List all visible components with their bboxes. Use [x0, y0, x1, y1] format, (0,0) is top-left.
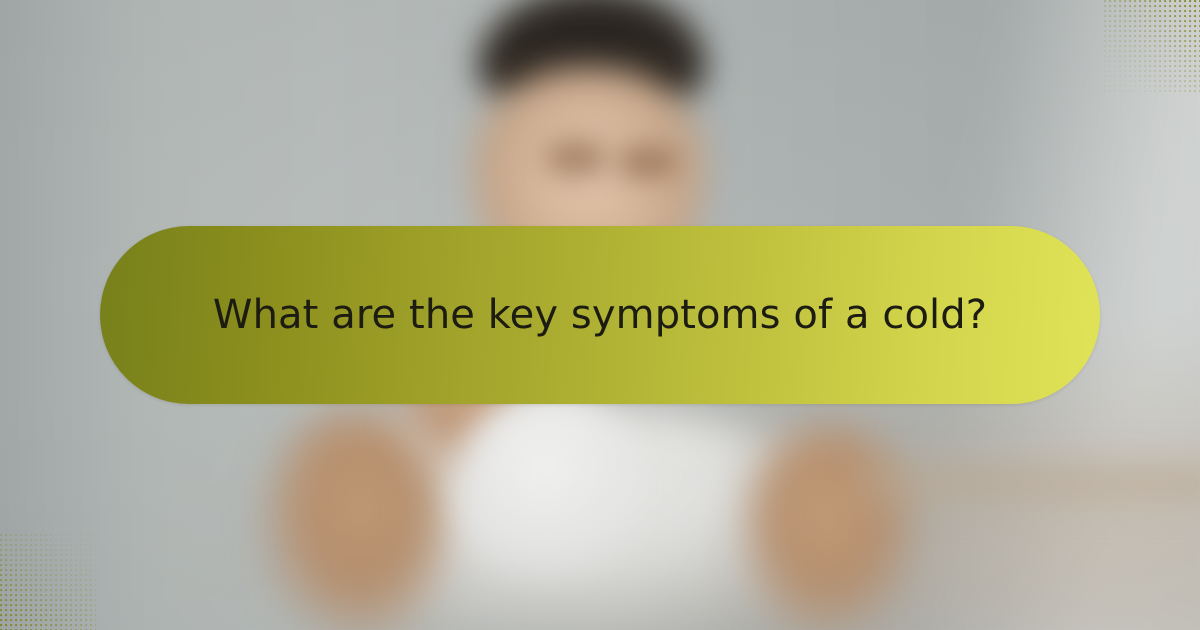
question-pill: What are the key symptoms of a cold? [100, 226, 1100, 404]
subject-eyebrow-left [545, 140, 607, 176]
subject-eyebrow-right [616, 144, 678, 180]
tissue [452, 392, 644, 588]
question-text: What are the key symptoms of a cold? [213, 292, 987, 338]
banner-canvas: What are the key symptoms of a cold? [0, 0, 1200, 630]
counter-band [860, 452, 1200, 516]
